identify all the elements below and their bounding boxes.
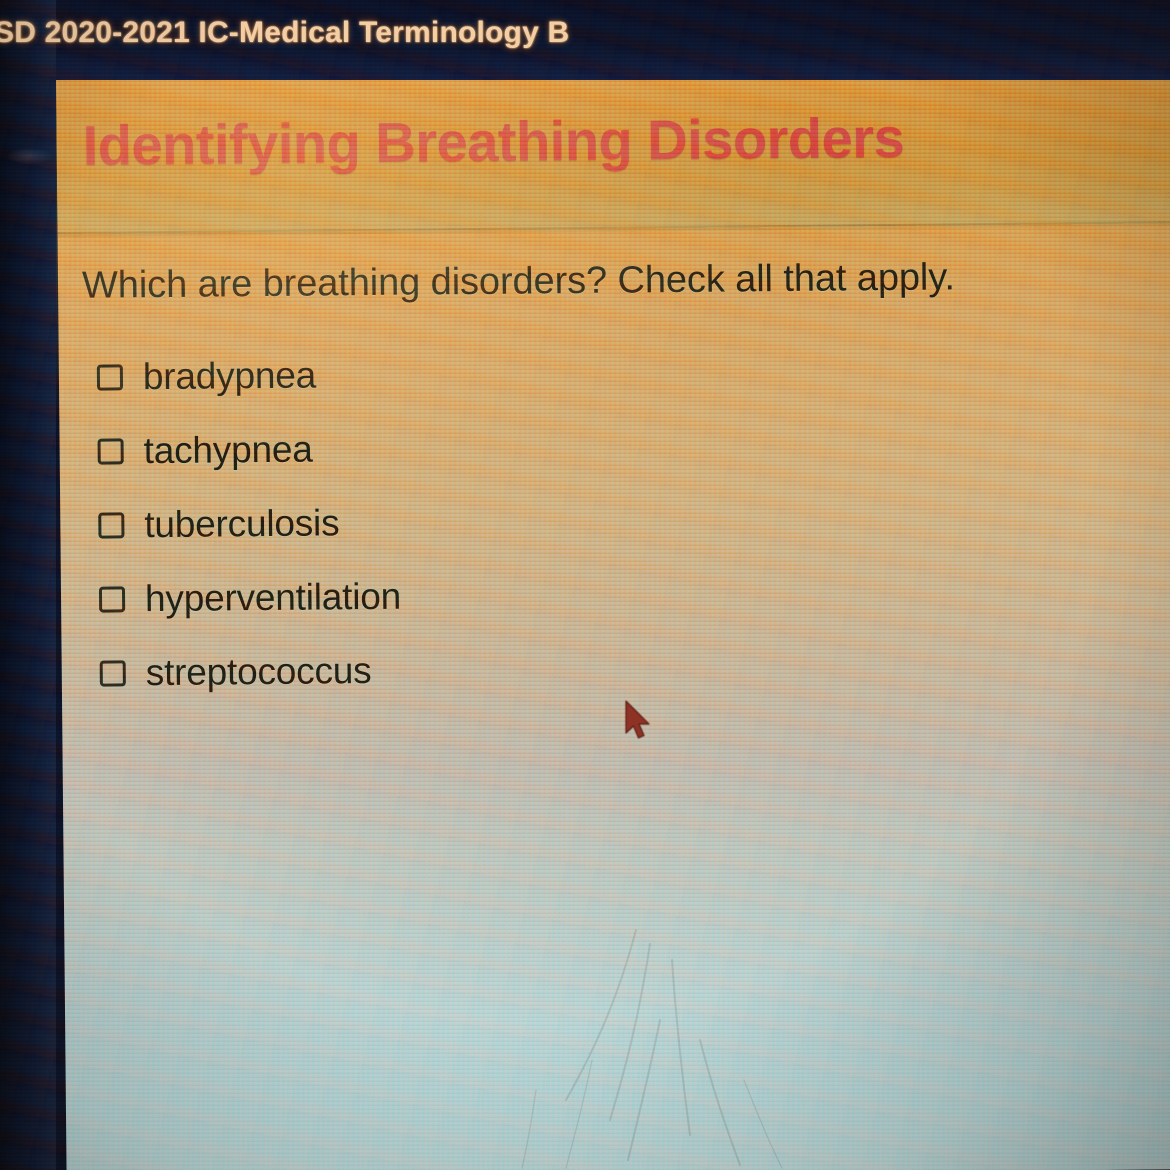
checkbox-option-hyperventilation[interactable]: hyperventilation: [99, 555, 860, 636]
activity-page: Identifying Breathing Disorders Which ar…: [56, 61, 1170, 1170]
checkbox-option-label: tachypnea: [143, 429, 312, 473]
checkbox-option-list: bradypnea tachypnea tuberculosis hyperve…: [97, 333, 861, 710]
checkbox-option-label: tuberculosis: [144, 502, 339, 546]
checkbox-icon[interactable]: [98, 438, 124, 464]
checkbox-icon[interactable]: [97, 364, 123, 390]
checkbox-option-tuberculosis[interactable]: tuberculosis: [98, 481, 859, 562]
browser-tab-strip[interactable]: SD 2020-2021 IC-Medical Terminology B: [0, 0, 1170, 80]
activity-header-band: Identifying Breathing Disorders: [56, 61, 1170, 234]
checkbox-option-label: hyperventilation: [145, 576, 401, 620]
checkbox-option-bradypnea[interactable]: bradypnea: [97, 333, 858, 414]
activity-body: Which are breathing disorders? Check all…: [58, 226, 1170, 1170]
checkbox-icon[interactable]: [99, 586, 125, 612]
checkbox-option-streptococcus[interactable]: streptococcus: [99, 629, 860, 710]
page-title: Identifying Breathing Disorders: [82, 110, 904, 174]
question-prompt: Which are breathing disorders? Check all…: [82, 256, 955, 307]
checkbox-icon[interactable]: [100, 660, 126, 686]
course-tab-title[interactable]: SD 2020-2021 IC-Medical Terminology B: [0, 16, 569, 50]
checkbox-option-label: streptococcus: [146, 650, 372, 694]
bezel-smudge: [8, 148, 52, 164]
checkbox-option-tachypnea[interactable]: tachypnea: [97, 407, 858, 488]
screen-photograph: Identifying Breathing Disorders Which ar…: [0, 0, 1170, 1170]
checkbox-option-label: bradypnea: [143, 355, 316, 399]
bezel-left-edge: [0, 0, 56, 1170]
checkbox-icon[interactable]: [98, 512, 124, 538]
